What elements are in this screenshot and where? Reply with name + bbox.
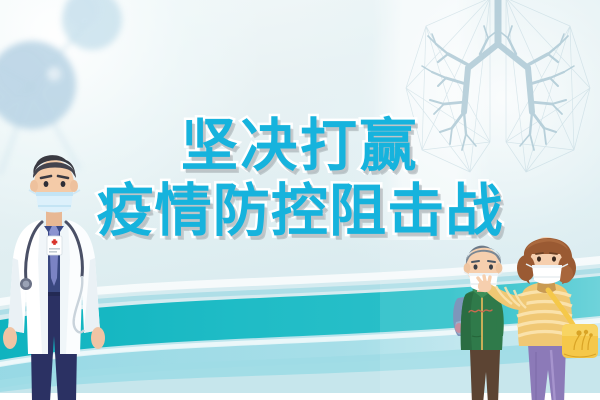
family-figure-group [452,232,600,400]
boy-figure [453,246,504,400]
doctor-figure [0,140,112,400]
covid-prevention-poster: 坚决打赢 疫情防控阻击战 [0,0,600,400]
lungs-wireframe-icon [392,0,600,182]
